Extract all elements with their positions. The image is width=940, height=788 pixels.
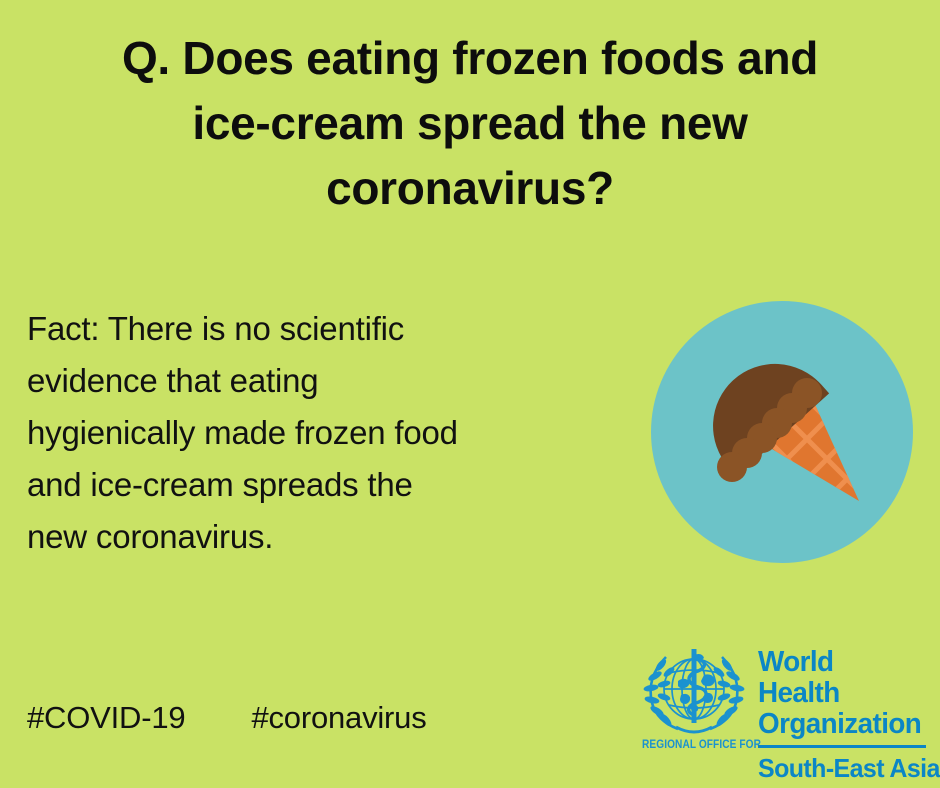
who-region-name: South-East Asia — [758, 754, 921, 782]
who-emblem-icon — [636, 645, 752, 737]
hashtag-covid19: #COVID-19 — [27, 698, 185, 738]
ice-cream-cone-icon — [651, 301, 913, 563]
poster-canvas: Q. Does eating frozen foods and ice-crea… — [0, 0, 940, 788]
who-logo: REGIONAL OFFICE FOR World Health Organiz… — [636, 645, 928, 763]
who-regional-office-label: REGIONAL OFFICE FOR — [642, 739, 746, 751]
page-title: Q. Does eating frozen foods and ice-crea… — [40, 26, 900, 221]
who-divider-rule — [758, 745, 926, 748]
ice-cream-illustration — [651, 301, 913, 563]
fact-paragraph: Fact: There is no scientific evidence th… — [27, 303, 627, 563]
hashtag-row: #COVID-19 #coronavirus — [27, 698, 427, 738]
who-wordmark: World Health Organization South-East Asi… — [758, 647, 928, 782]
who-organization-name: World Health Organization — [758, 647, 921, 740]
hashtag-coronavirus: #coronavirus — [251, 698, 426, 738]
